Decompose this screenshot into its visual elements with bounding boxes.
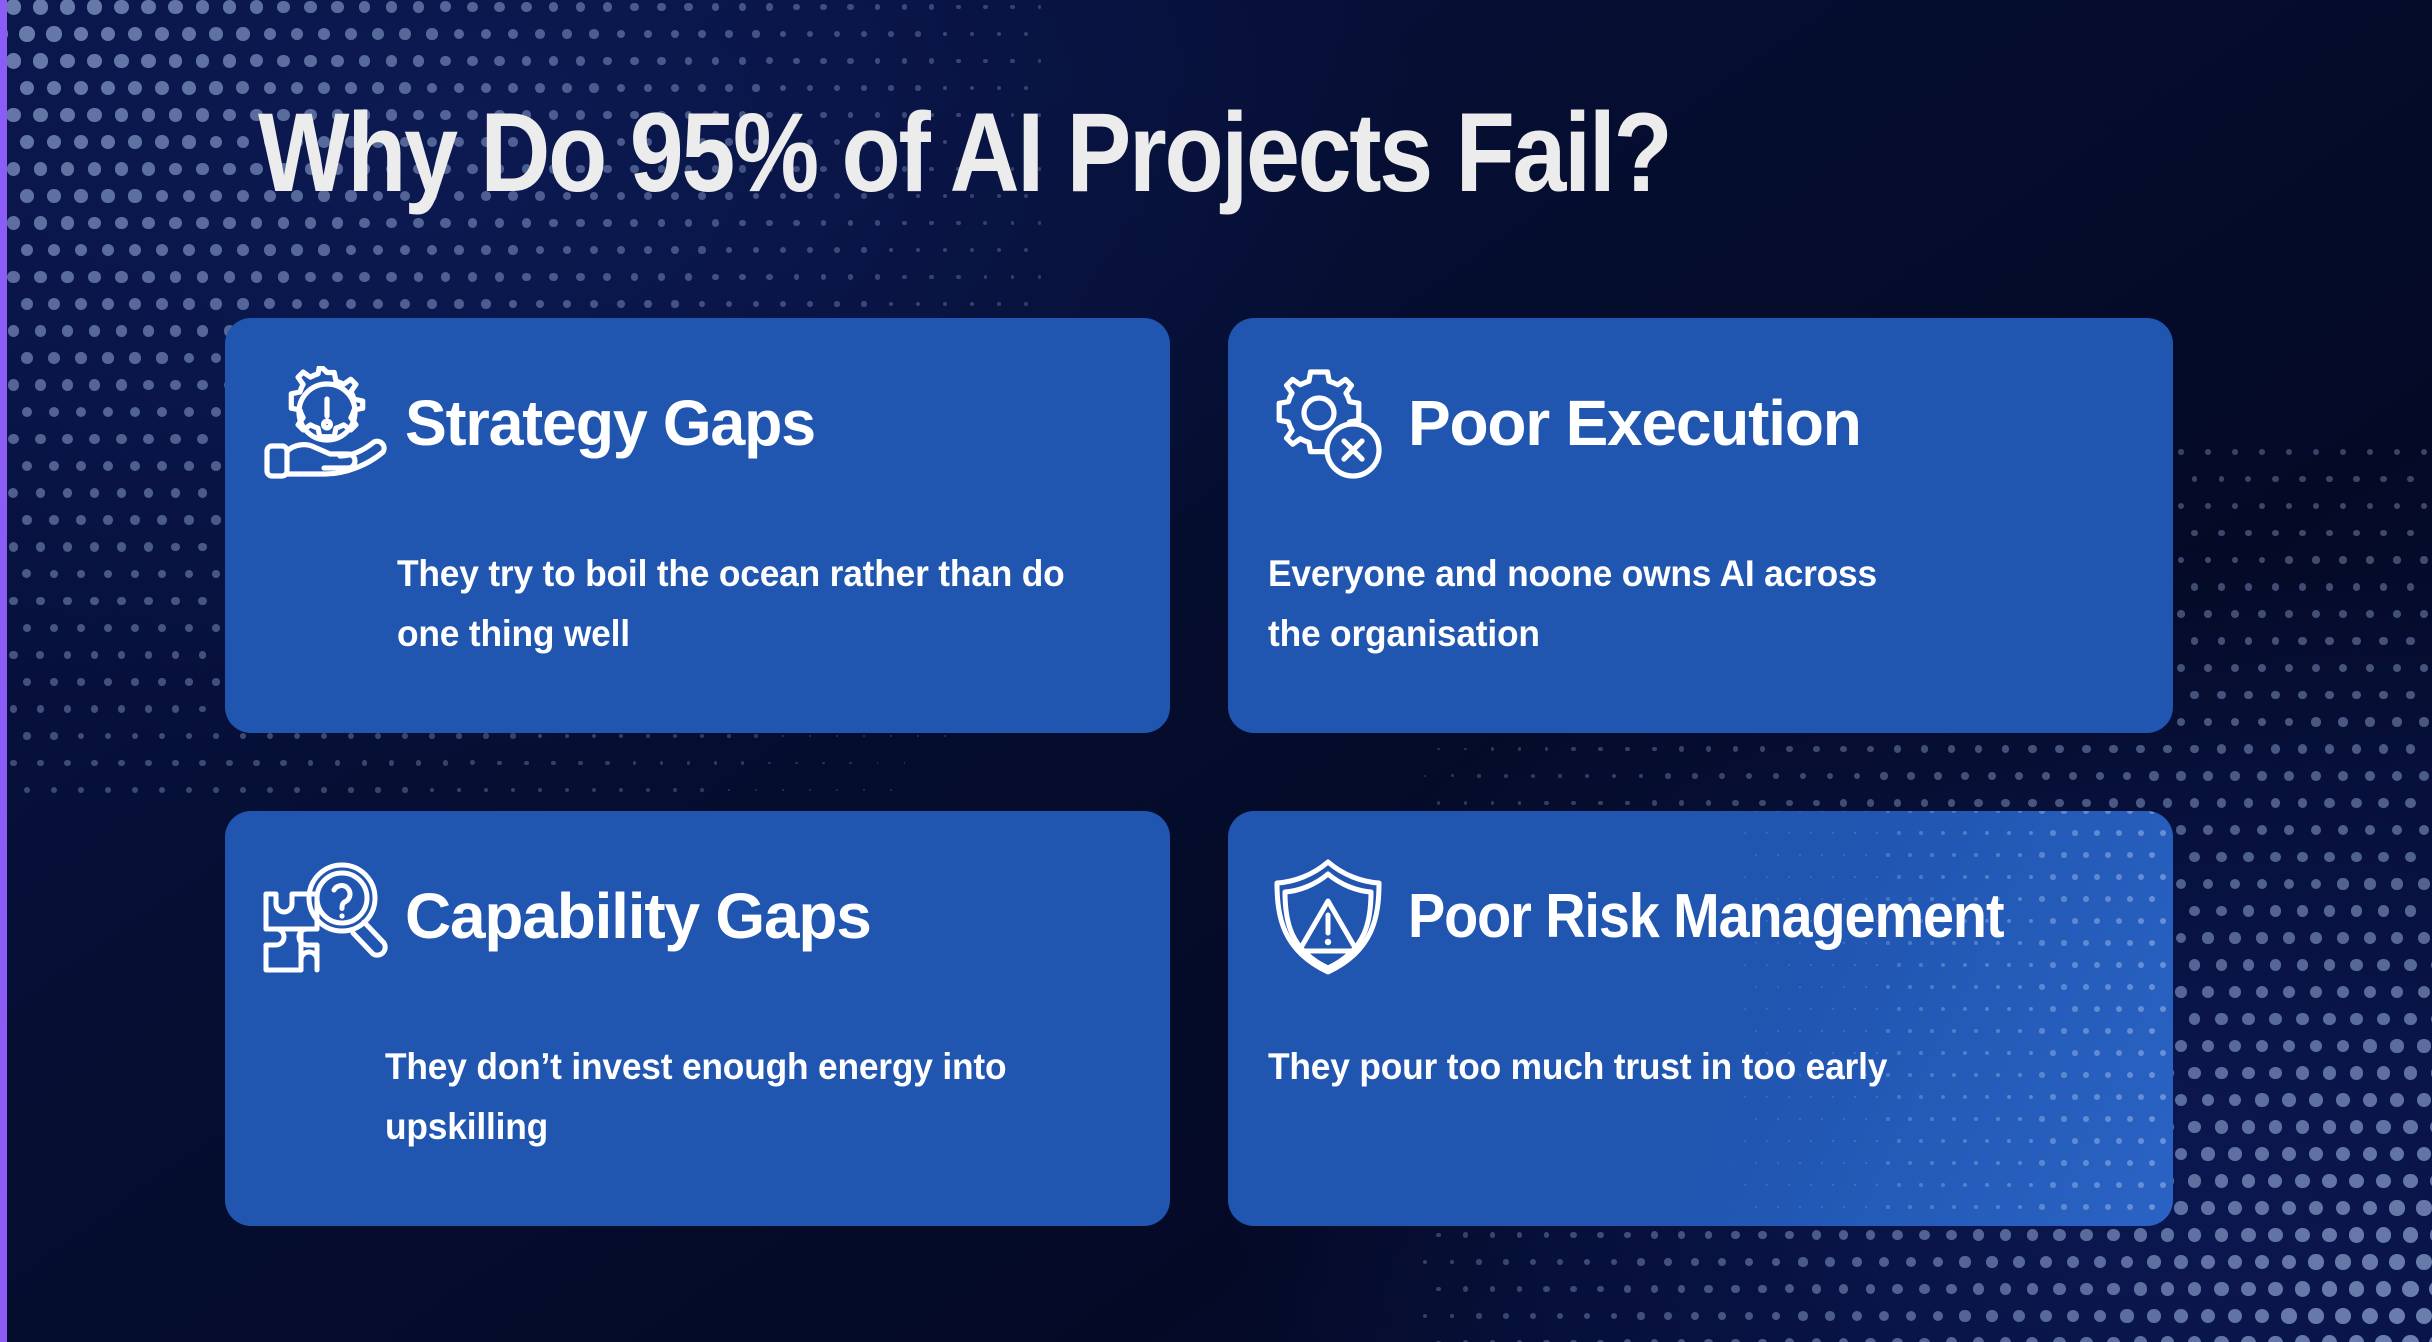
shield-warning-icon — [1260, 857, 1396, 977]
card-header: Capability Gaps — [257, 857, 1118, 977]
hand-holding-gear-alert-icon — [257, 364, 393, 484]
reason-card-grid: Strategy Gaps They try to boil the ocean… — [225, 318, 2208, 1223]
card-body-text: Everyone and noone owns AI across the or… — [1268, 544, 1937, 664]
card-capability-gaps[interactable]: Capability Gaps They don’t invest enough… — [225, 811, 1170, 1226]
card-strategy-gaps[interactable]: Strategy Gaps They try to boil the ocean… — [225, 318, 1170, 733]
slide-canvas: Why Do 95% of AI Projects Fail? Strateg — [0, 0, 2432, 1342]
card-body-text: They try to boil the ocean rather than d… — [397, 544, 1086, 664]
puzzle-magnifier-question-icon — [257, 857, 393, 977]
card-poor-risk-management[interactable]: Poor Risk Management They pour too much … — [1228, 811, 2173, 1226]
page-title: Why Do 95% of AI Projects Fail? — [258, 95, 1988, 211]
left-accent-stripe — [0, 0, 7, 1342]
gear-error-icon — [1260, 364, 1396, 484]
card-body-text: They don’t invest enough energy into ups… — [385, 1037, 1085, 1157]
card-header: Strategy Gaps — [257, 364, 1118, 484]
card-title: Strategy Gaps — [405, 390, 815, 457]
card-header: Poor Risk Management — [1260, 857, 2121, 977]
card-body-text: They pour too much trust in too early — [1268, 1037, 1937, 1097]
card-title: Poor Execution — [1408, 390, 1861, 457]
card-poor-execution[interactable]: Poor Execution Everyone and noone owns A… — [1228, 318, 2173, 733]
card-title: Poor Risk Management — [1408, 884, 2003, 949]
card-title: Capability Gaps — [405, 883, 871, 950]
card-header: Poor Execution — [1260, 364, 2121, 484]
